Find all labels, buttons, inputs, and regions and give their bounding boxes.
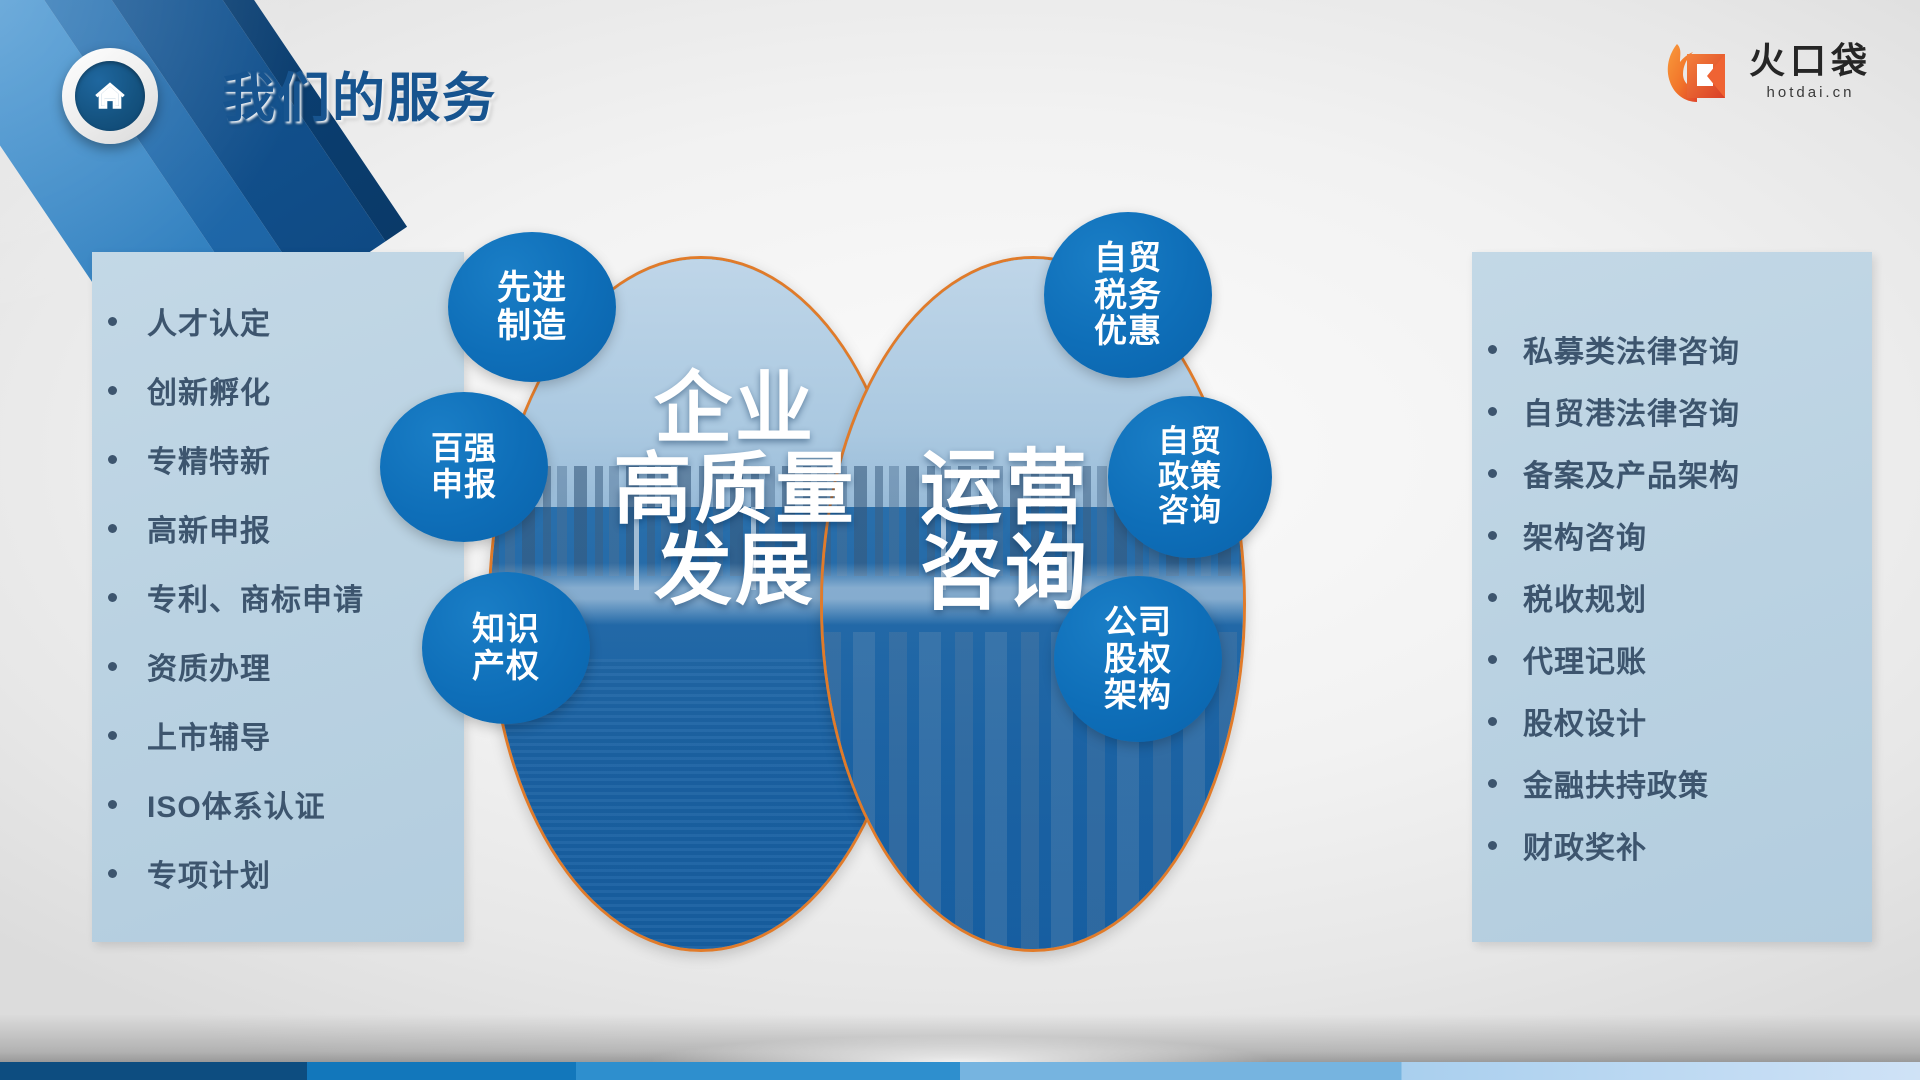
list-item-label: 税收规划 bbox=[1523, 575, 1647, 619]
list-item-label: 股权设计 bbox=[1523, 699, 1647, 743]
bubble-top100-declaration[interactable]: 百强申报 bbox=[380, 392, 548, 542]
list-item[interactable]: 自贸港法律咨询 bbox=[1472, 380, 1872, 442]
list-item-label: 创新孵化 bbox=[147, 368, 271, 412]
bullet-icon bbox=[108, 455, 117, 464]
list-item-label: 专项计划 bbox=[147, 851, 271, 895]
bullet-icon bbox=[108, 869, 117, 878]
list-item[interactable]: 专利、商标申请 bbox=[92, 563, 464, 632]
bullet-icon bbox=[1488, 593, 1497, 602]
left-services-list: 人才认定 创新孵化 专精特新 高新申报 专利、商标申请 资质办理 上市辅导 IS… bbox=[92, 252, 464, 942]
home-badge-inner bbox=[75, 61, 145, 131]
list-item-label: ISO体系认证 bbox=[147, 782, 326, 826]
bullet-icon bbox=[1488, 407, 1497, 416]
bullet-icon bbox=[108, 317, 117, 326]
slide-canvas: 我们的服务 bbox=[0, 0, 1920, 1080]
bubble-ftz-tax-benefits[interactable]: 自贸税务优惠 bbox=[1044, 212, 1212, 378]
bubble-advanced-manufacturing[interactable]: 先进制造 bbox=[448, 232, 616, 382]
page-title: 我们的服务 bbox=[222, 56, 497, 132]
list-item-label: 自贸港法律咨询 bbox=[1523, 389, 1740, 433]
logo-name-cn: 火口袋 bbox=[1749, 43, 1872, 79]
list-item-label: 架构咨询 bbox=[1523, 513, 1647, 557]
list-item[interactable]: 上市辅导 bbox=[92, 701, 464, 770]
home-icon bbox=[93, 79, 127, 113]
right-services-list: 私募类法律咨询 自贸港法律咨询 备案及产品架构 架构咨询 税收规划 代理记账 股… bbox=[1472, 252, 1872, 942]
list-item[interactable]: 资质办理 bbox=[92, 632, 464, 701]
list-item[interactable]: 备案及产品架构 bbox=[1472, 442, 1872, 504]
bullet-icon bbox=[108, 800, 117, 809]
bullet-icon bbox=[1488, 717, 1497, 726]
list-item-label: 高新申报 bbox=[147, 506, 271, 550]
brand-logo: 火口袋 hotdai.cn bbox=[1663, 34, 1872, 108]
bubble-ftz-policy-consulting[interactable]: 自贸政策咨询 bbox=[1108, 396, 1272, 558]
list-item[interactable]: 财政奖补 bbox=[1472, 814, 1872, 876]
list-item-label: 私募类法律咨询 bbox=[1523, 327, 1740, 371]
list-item[interactable]: 代理记账 bbox=[1472, 628, 1872, 690]
list-item[interactable]: 股权设计 bbox=[1472, 690, 1872, 752]
list-item-label: 金融扶持政策 bbox=[1523, 761, 1709, 805]
bullet-icon bbox=[1488, 655, 1497, 664]
logo-wordmark: 火口袋 hotdai.cn bbox=[1749, 43, 1872, 100]
bullet-icon bbox=[108, 524, 117, 533]
circle-enterprise-label: 企业高质量发展 bbox=[590, 368, 880, 611]
list-item-label: 人才认定 bbox=[147, 299, 271, 343]
bullet-icon bbox=[108, 593, 117, 602]
bullet-icon bbox=[1488, 345, 1497, 354]
list-item-label: 资质办理 bbox=[147, 644, 271, 688]
bullet-icon bbox=[108, 731, 117, 740]
bullet-icon bbox=[1488, 841, 1497, 850]
home-button[interactable] bbox=[62, 48, 158, 144]
list-item-label: 专精特新 bbox=[147, 437, 271, 481]
bottom-highlight bbox=[653, 1036, 1267, 1062]
flame-logo-icon bbox=[1663, 34, 1737, 108]
bubble-company-equity-structure[interactable]: 公司股权架构 bbox=[1054, 576, 1222, 742]
right-services-panel: 私募类法律咨询 自贸港法律咨询 备案及产品架构 架构咨询 税收规划 代理记账 股… bbox=[1472, 252, 1872, 942]
list-item-label: 专利、商标申请 bbox=[147, 575, 364, 619]
list-item[interactable]: ISO体系认证 bbox=[92, 770, 464, 839]
left-services-panel: 人才认定 创新孵化 专精特新 高新申报 专利、商标申请 资质办理 上市辅导 IS… bbox=[92, 252, 464, 942]
bottom-color-band bbox=[0, 1062, 1920, 1080]
list-item-label: 代理记账 bbox=[1523, 637, 1647, 681]
list-item-label: 备案及产品架构 bbox=[1523, 451, 1740, 495]
bullet-icon bbox=[108, 662, 117, 671]
list-item[interactable]: 金融扶持政策 bbox=[1472, 752, 1872, 814]
bullet-icon bbox=[108, 386, 117, 395]
venn-diagram: 企业高质量发展 运营咨询 先进制造 百强申报 知识产权 自贸税务优惠 自贸政策咨… bbox=[470, 246, 1450, 946]
list-item[interactable]: 架构咨询 bbox=[1472, 504, 1872, 566]
bullet-icon bbox=[1488, 531, 1497, 540]
list-item[interactable]: 私募类法律咨询 bbox=[1472, 318, 1872, 380]
logo-name-en: hotdai.cn bbox=[1767, 85, 1855, 100]
list-item[interactable]: 人才认定 bbox=[92, 287, 464, 356]
list-item-label: 上市辅导 bbox=[147, 713, 271, 757]
list-item[interactable]: 税收规划 bbox=[1472, 566, 1872, 628]
bullet-icon bbox=[1488, 779, 1497, 788]
bullet-icon bbox=[1488, 469, 1497, 478]
bubble-intellectual-property[interactable]: 知识产权 bbox=[422, 572, 590, 724]
list-item-label: 财政奖补 bbox=[1523, 823, 1647, 867]
list-item[interactable]: 专项计划 bbox=[92, 839, 464, 908]
